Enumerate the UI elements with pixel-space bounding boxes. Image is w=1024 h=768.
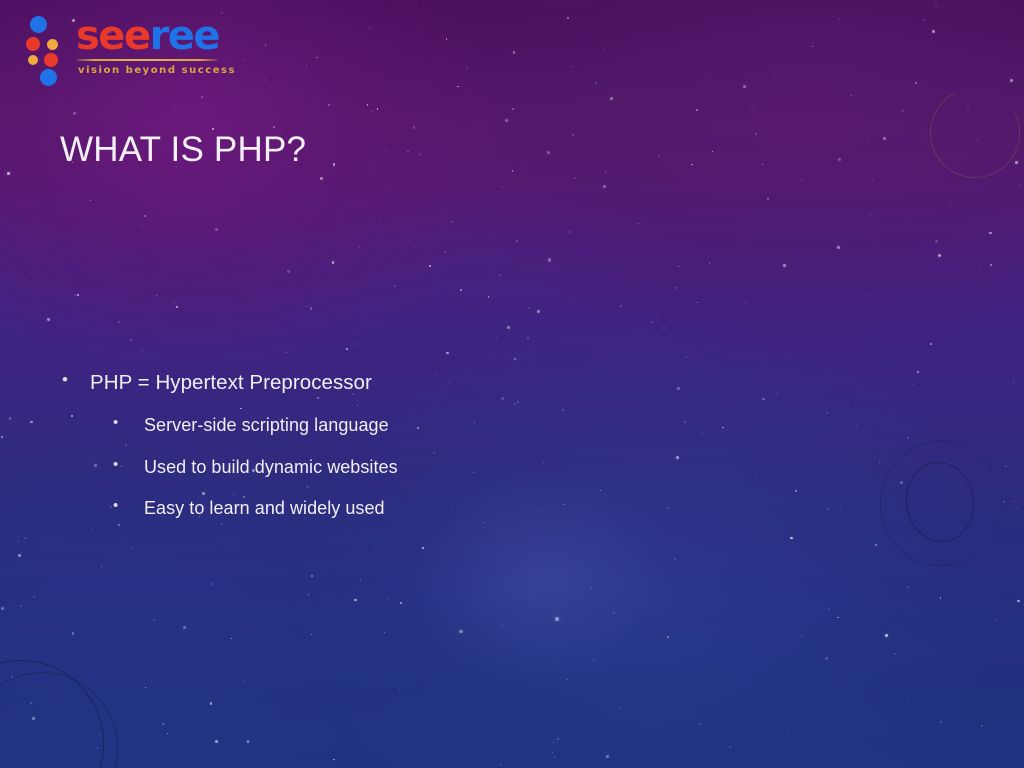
star-speck bbox=[637, 694, 638, 695]
star-speck bbox=[684, 421, 686, 423]
star-speck bbox=[245, 245, 247, 247]
star-speck bbox=[351, 658, 352, 659]
star-speck bbox=[367, 104, 369, 106]
dot-blue-top bbox=[30, 16, 47, 33]
star-speck bbox=[334, 575, 336, 577]
star-speck bbox=[451, 506, 453, 508]
star-speck bbox=[737, 393, 738, 394]
logo-tagline: vision beyond success bbox=[78, 65, 236, 76]
star-speck bbox=[543, 462, 544, 463]
star-speck bbox=[752, 669, 753, 670]
star-speck bbox=[944, 355, 945, 356]
star-speck bbox=[247, 740, 250, 743]
star-speck bbox=[912, 384, 913, 385]
star-speck bbox=[420, 267, 421, 268]
star-speck bbox=[655, 313, 657, 315]
star-speck bbox=[139, 400, 140, 401]
star-speck bbox=[850, 435, 851, 436]
star-speck bbox=[466, 67, 468, 69]
logo-divider-rule bbox=[77, 59, 217, 61]
star-speck bbox=[451, 221, 453, 223]
star-speck bbox=[354, 599, 357, 602]
star-speck bbox=[901, 110, 903, 112]
star-speck bbox=[72, 632, 74, 634]
star-speck bbox=[215, 740, 218, 743]
star-speck bbox=[605, 171, 606, 172]
star-speck bbox=[415, 4, 417, 6]
star-speck bbox=[360, 580, 361, 581]
star-speck bbox=[762, 164, 763, 165]
star-speck bbox=[474, 422, 475, 423]
star-speck bbox=[267, 649, 268, 650]
star-speck bbox=[930, 343, 932, 345]
star-speck bbox=[973, 449, 974, 450]
star-speck bbox=[468, 305, 469, 306]
star-speck bbox=[563, 91, 564, 92]
star-speck bbox=[141, 225, 143, 227]
bullet-text: Easy to learn and widely used bbox=[144, 498, 385, 519]
star-speck bbox=[377, 108, 378, 109]
star-speck bbox=[499, 274, 501, 276]
star-speck bbox=[931, 546, 932, 547]
star-speck bbox=[149, 292, 150, 293]
star-speck bbox=[980, 264, 982, 266]
star-speck bbox=[571, 66, 573, 68]
star-speck bbox=[1010, 79, 1013, 82]
star-speck bbox=[593, 745, 594, 746]
logo-wordmark: seeree bbox=[76, 14, 219, 58]
star-speck bbox=[505, 119, 508, 122]
star-speck bbox=[209, 319, 211, 321]
star-speck bbox=[349, 690, 351, 692]
star-speck bbox=[375, 546, 377, 548]
star-speck bbox=[564, 504, 565, 505]
star-speck bbox=[848, 176, 849, 177]
bullet-item-level2: •Used to build dynamic websites bbox=[113, 457, 398, 478]
star-speck bbox=[332, 261, 335, 264]
star-speck bbox=[150, 606, 151, 607]
star-speck bbox=[210, 702, 213, 705]
star-speck bbox=[214, 255, 215, 256]
star-speck bbox=[4, 314, 6, 316]
star-speck bbox=[1005, 465, 1007, 467]
star-speck bbox=[287, 270, 290, 273]
star-speck bbox=[402, 359, 403, 360]
star-speck bbox=[7, 172, 10, 175]
star-speck bbox=[384, 571, 385, 572]
star-speck bbox=[674, 287, 676, 289]
star-speck bbox=[922, 135, 924, 137]
star-speck bbox=[290, 230, 291, 231]
star-speck bbox=[32, 345, 33, 346]
star-speck bbox=[729, 746, 731, 748]
star-speck bbox=[699, 724, 700, 725]
star-speck bbox=[328, 104, 330, 106]
star-speck bbox=[908, 701, 910, 703]
star-speck bbox=[497, 529, 499, 531]
star-speck bbox=[90, 200, 91, 201]
star-speck bbox=[547, 151, 550, 154]
star-speck bbox=[514, 403, 516, 405]
star-speck bbox=[595, 82, 597, 84]
star-speck bbox=[18, 554, 21, 557]
star-speck bbox=[685, 356, 687, 358]
star-speck bbox=[41, 613, 42, 614]
star-speck bbox=[967, 106, 969, 108]
star-speck bbox=[145, 687, 146, 688]
star-speck bbox=[488, 296, 490, 298]
dot-blue-bottom bbox=[40, 69, 57, 86]
star-speck bbox=[711, 224, 712, 225]
star-speck bbox=[394, 285, 396, 287]
star-speck bbox=[591, 588, 592, 589]
star-speck bbox=[66, 601, 68, 603]
star-speck bbox=[574, 177, 576, 179]
decorative-ring-bottom-left-inner bbox=[0, 672, 118, 768]
star-speck bbox=[756, 478, 757, 479]
star-speck bbox=[898, 347, 900, 349]
star-speck bbox=[387, 598, 389, 600]
star-speck bbox=[658, 155, 659, 156]
star-speck bbox=[598, 754, 599, 755]
star-speck bbox=[870, 214, 871, 215]
star-speck bbox=[610, 97, 613, 100]
star-speck bbox=[442, 375, 443, 376]
star-speck bbox=[973, 207, 974, 208]
star-speck bbox=[566, 679, 568, 681]
star-speck bbox=[816, 381, 818, 383]
star-speck bbox=[79, 494, 80, 495]
star-speck bbox=[839, 18, 840, 19]
star-speck bbox=[524, 167, 525, 168]
star-speck bbox=[27, 165, 28, 166]
star-speck bbox=[691, 164, 693, 166]
star-speck bbox=[540, 320, 542, 322]
star-speck bbox=[212, 552, 213, 553]
star-speck bbox=[657, 723, 658, 724]
star-speck bbox=[231, 638, 232, 639]
star-speck bbox=[97, 747, 98, 748]
decorative-ring-top-right bbox=[918, 76, 1024, 189]
star-speck bbox=[722, 427, 723, 428]
star-speck bbox=[118, 524, 121, 527]
star-speck bbox=[692, 519, 693, 520]
dot-amber-mid bbox=[47, 39, 58, 50]
star-speck bbox=[861, 437, 863, 439]
star-speck bbox=[185, 284, 186, 285]
star-speck bbox=[915, 82, 917, 84]
star-speck bbox=[790, 537, 792, 539]
star-speck bbox=[436, 374, 438, 376]
star-speck bbox=[620, 708, 621, 709]
star-speck bbox=[320, 177, 323, 180]
dot-red-low bbox=[44, 53, 58, 67]
nebula-bloom-top-right bbox=[430, 0, 1024, 360]
star-speck bbox=[512, 170, 514, 172]
bullet-item-level1: •PHP = Hypertext Preprocessor bbox=[62, 371, 372, 395]
star-speck bbox=[264, 79, 266, 81]
star-speck bbox=[9, 417, 11, 419]
star-speck bbox=[852, 667, 854, 669]
star-speck bbox=[125, 444, 128, 447]
star-speck bbox=[215, 228, 218, 231]
star-speck bbox=[4, 388, 5, 389]
star-speck bbox=[697, 302, 698, 303]
star-speck bbox=[940, 597, 941, 598]
star-speck bbox=[667, 636, 670, 639]
star-speck bbox=[1, 607, 4, 610]
star-speck bbox=[783, 275, 784, 276]
star-speck bbox=[56, 759, 57, 760]
star-speck bbox=[501, 397, 504, 400]
star-speck bbox=[717, 606, 718, 607]
star-speck bbox=[46, 335, 48, 337]
star-speck bbox=[501, 186, 503, 188]
star-speck bbox=[847, 81, 848, 82]
star-speck bbox=[45, 396, 46, 397]
star-speck bbox=[826, 412, 828, 414]
star-speck bbox=[354, 343, 356, 345]
star-speck bbox=[98, 735, 100, 737]
star-speck bbox=[261, 492, 263, 494]
star-speck bbox=[1015, 161, 1018, 164]
star-speck bbox=[348, 609, 349, 610]
star-speck bbox=[415, 246, 416, 247]
star-speck bbox=[71, 415, 73, 417]
star-speck bbox=[710, 78, 712, 80]
star-speck bbox=[644, 51, 645, 52]
star-speck bbox=[489, 271, 491, 273]
star-speck bbox=[554, 756, 555, 757]
star-speck bbox=[517, 401, 519, 403]
star-speck bbox=[1016, 507, 1017, 508]
star-speck bbox=[651, 321, 653, 323]
star-speck bbox=[837, 617, 838, 618]
star-speck bbox=[317, 397, 319, 399]
star-speck bbox=[365, 661, 366, 662]
star-speck bbox=[444, 288, 445, 289]
star-speck bbox=[1004, 599, 1006, 601]
star-speck bbox=[202, 492, 205, 495]
star-speck bbox=[101, 566, 102, 567]
star-speck bbox=[1017, 600, 1020, 603]
star-speck bbox=[856, 425, 858, 427]
star-speck bbox=[120, 261, 121, 262]
star-speck bbox=[121, 682, 122, 683]
nebula-bloom-center-right bbox=[300, 330, 1000, 768]
star-speck bbox=[712, 151, 713, 152]
star-speck bbox=[613, 735, 614, 736]
star-speck bbox=[381, 384, 382, 385]
star-speck bbox=[655, 46, 656, 47]
star-speck bbox=[837, 246, 840, 249]
star-speck bbox=[240, 408, 242, 410]
star-speck bbox=[907, 437, 908, 438]
star-speck bbox=[33, 596, 35, 598]
logo-dots-icon bbox=[24, 16, 70, 86]
star-speck bbox=[358, 246, 360, 248]
star-speck bbox=[1012, 441, 1013, 442]
star-speck bbox=[629, 326, 630, 327]
star-speck bbox=[932, 30, 935, 33]
star-speck bbox=[357, 405, 358, 406]
star-speck bbox=[645, 583, 647, 585]
star-speck bbox=[600, 490, 601, 491]
star-speck bbox=[47, 318, 50, 321]
star-speck bbox=[172, 367, 174, 369]
star-speck bbox=[649, 690, 650, 691]
star-speck bbox=[110, 444, 111, 445]
star-speck bbox=[400, 602, 403, 605]
star-speck bbox=[332, 69, 333, 70]
bullet-text: Used to build dynamic websites bbox=[144, 457, 398, 478]
star-speck bbox=[905, 218, 906, 219]
star-speck bbox=[603, 185, 606, 188]
star-speck bbox=[557, 738, 559, 740]
decorative-ring-right-outer bbox=[868, 429, 1014, 578]
star-speck bbox=[940, 628, 942, 630]
star-speck bbox=[156, 295, 158, 297]
star-speck bbox=[429, 265, 431, 267]
star-speck bbox=[639, 212, 640, 213]
star-speck bbox=[801, 635, 802, 636]
star-speck bbox=[346, 348, 348, 350]
star-speck bbox=[773, 77, 775, 79]
star-speck bbox=[486, 37, 487, 38]
star-speck bbox=[306, 65, 307, 66]
star-speck bbox=[788, 351, 789, 352]
star-speck bbox=[20, 605, 22, 607]
star-speck bbox=[201, 96, 203, 98]
star-speck bbox=[563, 554, 564, 555]
star-speck bbox=[273, 126, 275, 128]
bullet-item-level2: •Server-side scripting language bbox=[113, 415, 389, 436]
star-speck bbox=[611, 323, 612, 324]
star-speck bbox=[32, 717, 35, 720]
bullet-marker-icon: • bbox=[62, 371, 90, 388]
star-speck bbox=[825, 657, 828, 660]
star-speck bbox=[211, 583, 213, 585]
star-speck bbox=[301, 3, 302, 4]
star-speck bbox=[1, 436, 4, 439]
star-speck bbox=[32, 711, 33, 712]
star-speck bbox=[663, 327, 665, 329]
star-speck bbox=[795, 490, 797, 492]
star-speck bbox=[801, 180, 803, 182]
star-speck bbox=[97, 226, 98, 227]
star-speck bbox=[828, 608, 830, 610]
page-title: WHAT IS PHP? bbox=[60, 129, 306, 171]
star-speck bbox=[593, 659, 595, 661]
star-speck bbox=[730, 528, 731, 529]
star-speck bbox=[513, 51, 516, 54]
star-speck bbox=[990, 264, 992, 266]
star-speck bbox=[419, 153, 421, 155]
star-speck bbox=[357, 155, 358, 156]
star-speck bbox=[638, 223, 639, 224]
star-speck bbox=[862, 45, 864, 47]
star-speck bbox=[30, 421, 33, 424]
star-speck bbox=[871, 375, 872, 376]
star-speck bbox=[569, 672, 570, 673]
star-speck bbox=[387, 88, 389, 90]
star-speck bbox=[981, 725, 983, 727]
star-speck bbox=[552, 752, 554, 754]
star-speck bbox=[500, 206, 501, 207]
star-speck bbox=[13, 446, 14, 447]
star-speck bbox=[385, 149, 387, 151]
star-speck bbox=[935, 5, 937, 7]
star-speck bbox=[77, 294, 78, 295]
star-speck bbox=[823, 270, 825, 272]
star-speck bbox=[379, 217, 380, 218]
star-speck bbox=[221, 524, 222, 525]
star-speck bbox=[567, 17, 569, 19]
star-speck bbox=[642, 435, 643, 436]
decorative-ring-bottom-left-outer bbox=[0, 660, 104, 768]
star-speck bbox=[420, 587, 422, 589]
star-speck bbox=[432, 133, 433, 134]
star-speck bbox=[418, 27, 419, 28]
star-speck bbox=[875, 544, 877, 546]
bullet-marker-icon: • bbox=[113, 415, 144, 430]
star-speck bbox=[31, 272, 32, 273]
bullet-marker-icon: • bbox=[113, 498, 144, 513]
star-speck bbox=[286, 352, 287, 353]
star-speck bbox=[413, 126, 416, 129]
star-speck bbox=[175, 108, 177, 110]
bullet-text: PHP = Hypertext Preprocessor bbox=[90, 371, 372, 395]
star-speck bbox=[546, 607, 547, 608]
star-speck bbox=[1013, 381, 1014, 382]
star-speck bbox=[369, 27, 370, 28]
star-speck bbox=[130, 339, 132, 341]
star-speck bbox=[444, 251, 446, 253]
star-speck bbox=[125, 725, 126, 726]
star-speck bbox=[473, 472, 474, 473]
star-speck bbox=[604, 49, 605, 50]
star-speck bbox=[695, 765, 696, 766]
star-speck bbox=[562, 409, 564, 411]
star-speck bbox=[265, 44, 267, 46]
star-speck bbox=[372, 111, 373, 112]
star-speck bbox=[822, 610, 823, 611]
star-speck bbox=[745, 302, 746, 303]
star-speck bbox=[144, 215, 146, 217]
star-speck bbox=[755, 45, 756, 46]
star-speck bbox=[715, 365, 717, 367]
star-speck bbox=[537, 310, 540, 313]
star-speck bbox=[787, 733, 789, 735]
star-speck bbox=[696, 681, 697, 682]
star-speck bbox=[951, 206, 952, 207]
star-speck bbox=[1019, 184, 1021, 186]
dot-amber-low bbox=[28, 55, 38, 65]
star-speck bbox=[769, 250, 771, 252]
star-speck bbox=[938, 254, 941, 257]
star-speck bbox=[420, 559, 421, 560]
star-speck bbox=[268, 366, 269, 367]
star-speck bbox=[448, 381, 450, 383]
star-speck bbox=[460, 289, 462, 291]
star-speck bbox=[326, 225, 328, 227]
star-speck bbox=[757, 191, 758, 192]
star-speck bbox=[549, 552, 550, 553]
star-speck bbox=[850, 95, 852, 97]
star-speck bbox=[399, 689, 401, 691]
star-speck bbox=[676, 456, 679, 459]
bullet-marker-icon: • bbox=[113, 457, 144, 472]
